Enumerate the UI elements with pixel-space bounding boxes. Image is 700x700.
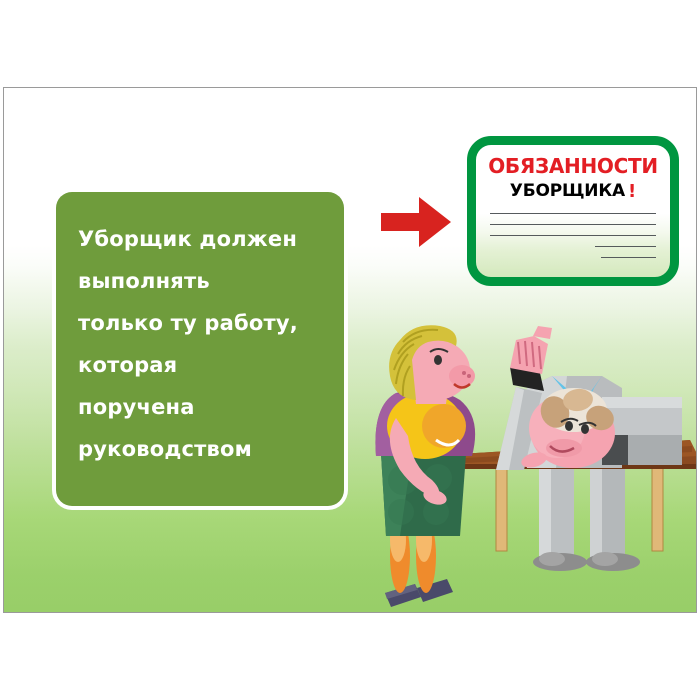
sign-rule-line [490, 224, 656, 225]
sign-rule-line [490, 246, 656, 247]
sign-rule-line-bar [490, 213, 656, 214]
sign-rule-line-bar [490, 224, 656, 225]
sign-subtitle: УБОРЩИКА [510, 181, 625, 201]
right-arrow-icon [381, 195, 451, 249]
poster-image-frame: Уборщик должен выполнять только ту работ… [3, 87, 697, 613]
sign-rule-line-bar [601, 257, 656, 258]
sign-rule-line-bar [595, 246, 656, 247]
sign-exclamation-mark: ! [628, 181, 636, 202]
sign-rule-line [490, 235, 656, 236]
sign-rule-line [490, 213, 656, 214]
sign-rule-line [490, 257, 656, 258]
duties-sign: ОБЯЗАННОСТИ УБОРЩИКА ! [467, 136, 679, 286]
pointing-hand [510, 326, 552, 374]
message-panel: Уборщик должен выполнять только ту работ… [56, 192, 344, 506]
cleaner-character [375, 325, 475, 607]
sign-subtitle-row: УБОРЩИКА ! [476, 181, 670, 202]
message-panel-text: Уборщик должен выполнять только ту работ… [78, 218, 322, 470]
sign-rule-lines [476, 213, 670, 258]
sign-rule-line-bar [490, 235, 656, 236]
sign-title: ОБЯЗАННОСТИ [476, 154, 670, 178]
